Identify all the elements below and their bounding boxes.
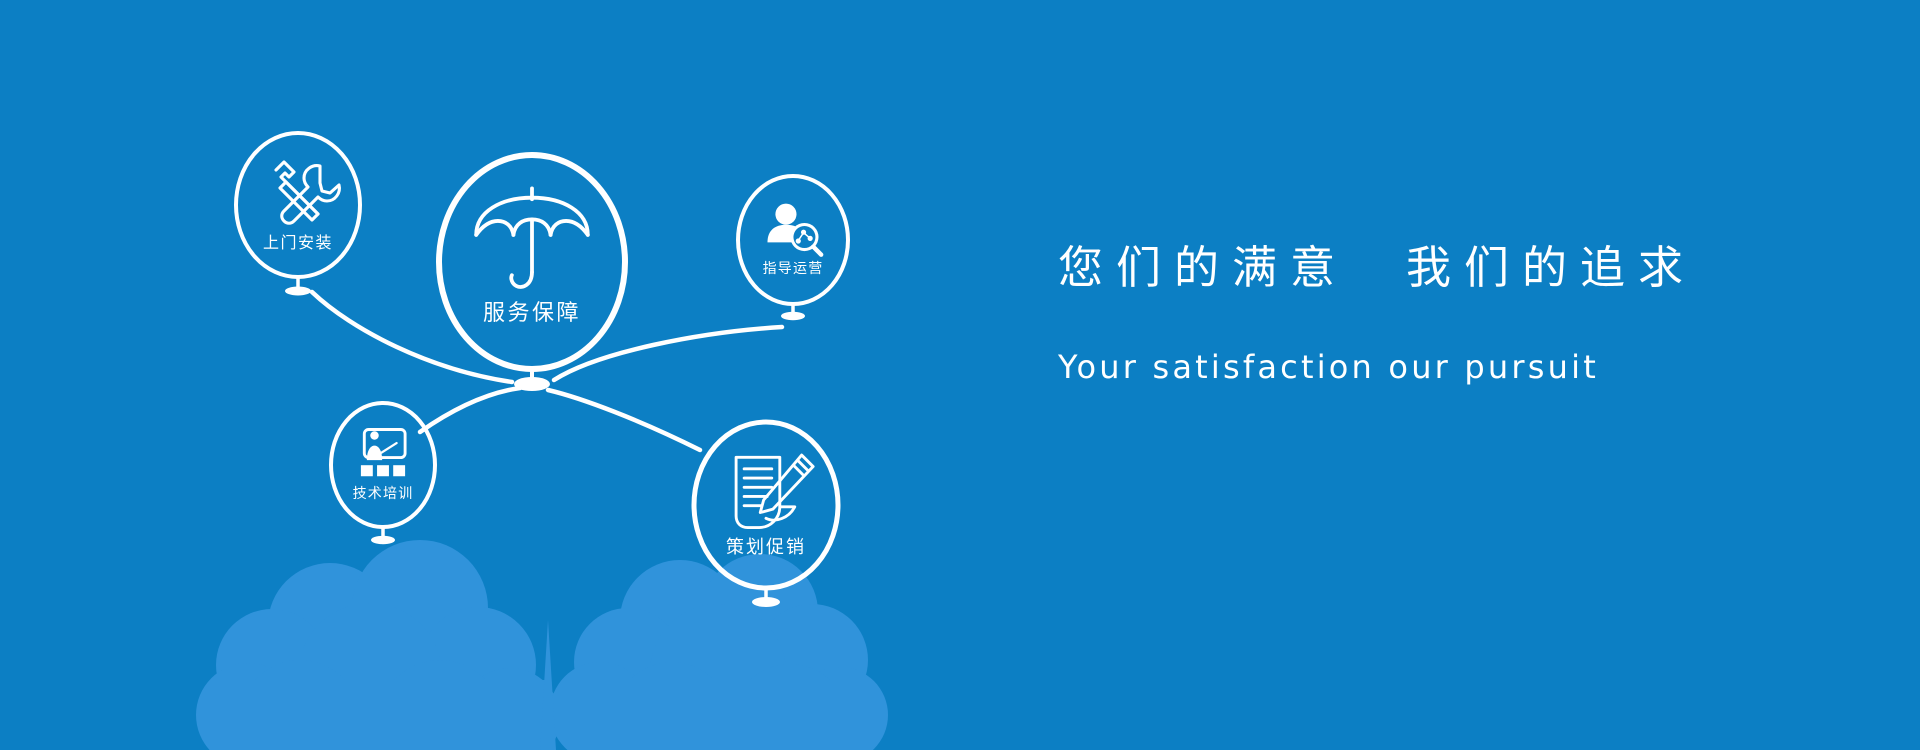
node-promo-planning-label: 策划促销	[726, 537, 806, 558]
node-operation-guidance-label: 指导运营	[763, 261, 824, 277]
foliage-group	[196, 540, 888, 750]
node-service-guarantee-label: 服务保障	[483, 301, 581, 326]
bush-right	[550, 554, 888, 750]
slogan-english: Your satisfaction our pursuit	[1058, 348, 1758, 386]
node-operation-guidance[interactable]: 指导运营	[738, 176, 848, 320]
document-pencil-icon	[736, 455, 813, 527]
person-analytics-icon	[767, 204, 821, 255]
service-hub-base	[514, 377, 550, 391]
slogan-chinese: 您们的满意 我们的追求	[1058, 240, 1758, 296]
node-tech-training-ring[interactable]	[331, 403, 435, 527]
node-service-guarantee[interactable]: 服务保障	[439, 155, 625, 391]
hammer-wrench-icon	[276, 162, 339, 223]
connector-promo-to-hub	[548, 390, 700, 450]
node-install[interactable]: 上门安装	[236, 133, 360, 296]
node-install-base	[285, 287, 311, 296]
node-tech-training-label: 技术培训	[353, 486, 414, 502]
node-promo-planning-base	[752, 597, 780, 607]
connector-training-to-hub	[420, 388, 520, 432]
bush-left	[196, 540, 560, 750]
classroom-training-icon	[361, 430, 405, 477]
umbrella-icon	[476, 188, 588, 287]
slogan-block: 您们的满意 我们的追求 Your satisfaction our pursui…	[1058, 240, 1758, 387]
node-tech-training[interactable]: 技术培训	[331, 403, 435, 544]
node-operation-guidance-base	[781, 312, 805, 320]
connector-guidance-to-hub	[554, 327, 782, 380]
node-tech-training-base	[371, 536, 395, 544]
service-banner: 上门安装 服务保障	[0, 0, 1920, 750]
node-install-label: 上门安装	[263, 233, 333, 252]
